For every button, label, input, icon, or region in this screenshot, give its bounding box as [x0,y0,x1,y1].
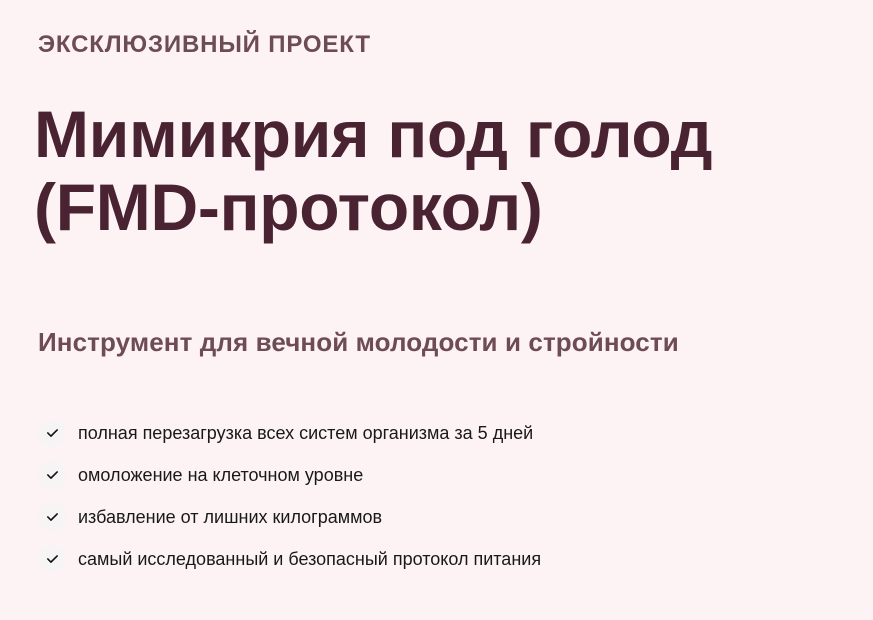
list-item-label: самый исследованный и безопасный протоко… [78,547,541,571]
check-icon [38,419,66,447]
list-item: самый исследованный и безопасный протоко… [38,538,818,580]
page-title: Мимикрия под голод (FMD-протокол) [34,98,712,244]
list-item: избавление от лишних килограммов [38,496,818,538]
list-item-label: избавление от лишних килограммов [78,505,382,529]
check-icon [38,545,66,573]
benefits-list: полная перезагрузка всех систем организм… [38,412,818,580]
eyebrow-label: ЭКСКЛЮЗИВНЫЙ ПРОЕКТ [38,30,371,60]
list-item: омоложение на клеточном уровне [38,454,818,496]
list-item-label: омоложение на клеточном уровне [78,463,363,487]
hero-section: ЭКСКЛЮЗИВНЫЙ ПРОЕКТ Мимикрия под голод (… [0,0,873,620]
check-icon [38,503,66,531]
check-icon [38,461,66,489]
page-title-line-2: (FMD-протокол) [34,171,712,244]
list-item-label: полная перезагрузка всех систем организм… [78,421,533,445]
page-title-line-1: Мимикрия под голод [34,98,712,171]
page-subtitle: Инструмент для вечной молодости и стройн… [38,325,679,359]
list-item: полная перезагрузка всех систем организм… [38,412,818,454]
